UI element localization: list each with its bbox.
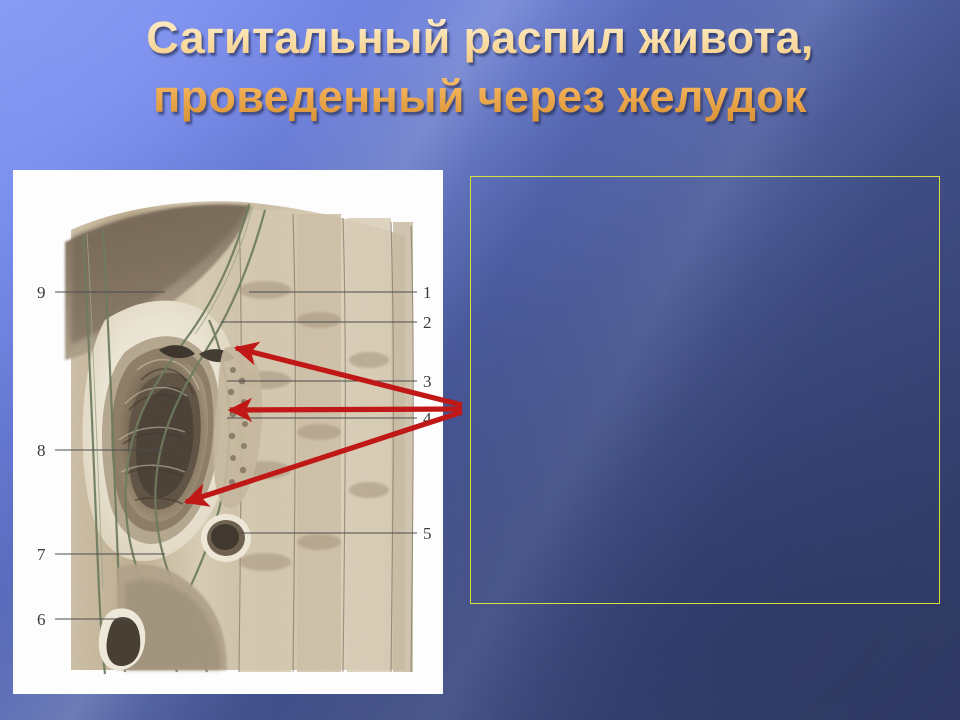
figure-label-5: 5 <box>423 524 432 543</box>
sagittal-abdomen-illustration: 9 8 7 6 1 2 3 4 5 <box>13 170 443 694</box>
figure-label-2: 2 <box>423 313 432 332</box>
figure-label-6: 6 <box>37 610 46 629</box>
figure-label-1: 1 <box>423 283 432 302</box>
slide-title: Сагитальный распил живота, проведенный ч… <box>40 8 920 127</box>
figure-label-4: 4 <box>423 409 432 428</box>
note-placeholder-box[interactable] <box>470 176 940 604</box>
figure-label-3: 3 <box>423 372 432 391</box>
figure-label-8: 8 <box>37 441 46 460</box>
figure-label-7: 7 <box>37 545 46 564</box>
figure-label-9: 9 <box>37 283 46 302</box>
slide-canvas: Сагитальный распил живота, проведенный ч… <box>0 0 960 720</box>
anatomy-figure-panel: 9 8 7 6 1 2 3 4 5 <box>13 170 443 694</box>
